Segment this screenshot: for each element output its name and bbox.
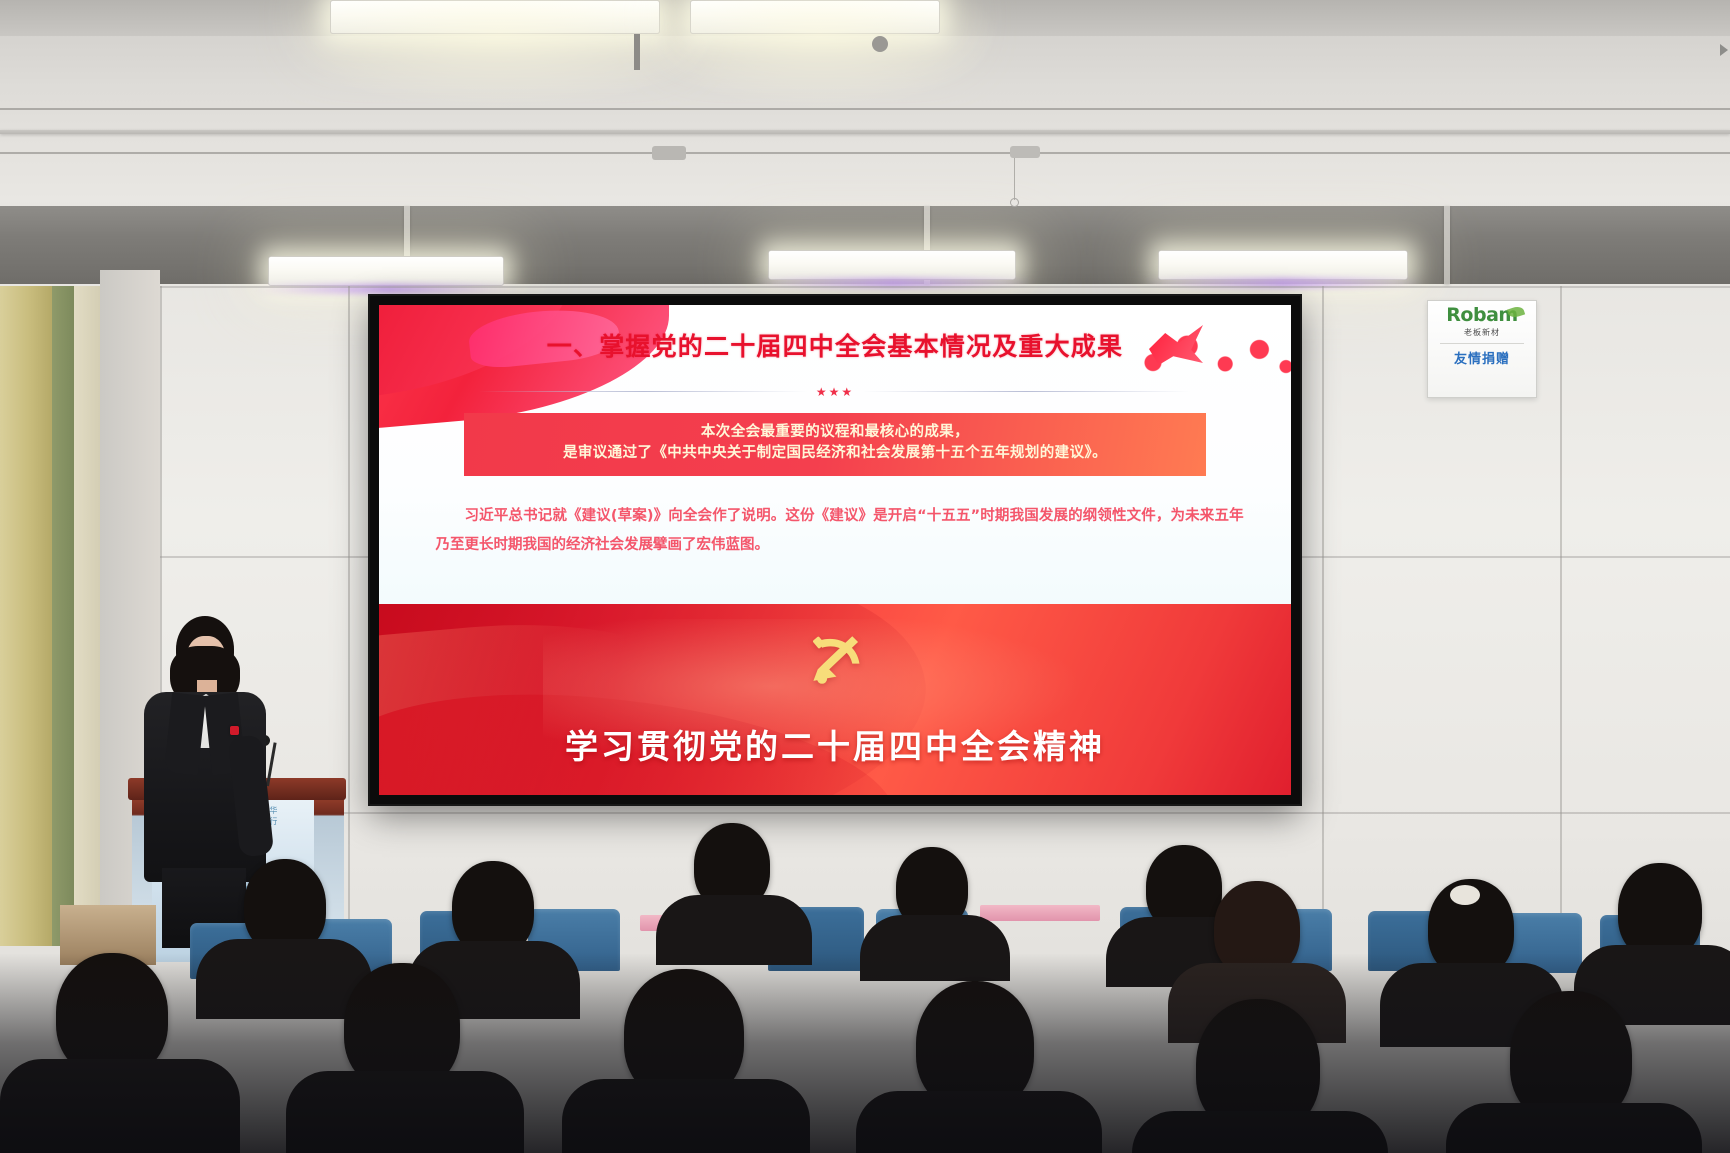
sponsor-donation-text: 友情捐赠	[1454, 348, 1510, 367]
hair-accessory	[1450, 885, 1480, 905]
ceiling-light-fixture	[1158, 250, 1408, 280]
ceiling-light-fixture	[330, 0, 660, 34]
ceiling-beam	[0, 130, 1730, 134]
slide-divider: ★★★	[479, 386, 1190, 398]
chevron-right-icon	[1720, 44, 1728, 56]
sponsor-divider	[1440, 343, 1524, 344]
ceiling-beam	[1444, 206, 1450, 284]
wall-seam	[0, 286, 1730, 288]
sponsor-brand-cn: 老板新材	[1464, 327, 1500, 338]
callout-line-1: 本次全会最重要的议程和最核心的成果，	[474, 422, 1196, 444]
slide-surface: 一、掌握党的二十届四中全会基本情况及重大成果 ★★★ 本次全会最重要的议程和最核…	[379, 305, 1291, 795]
sponsor-sign: Robam 老板新材 友情捐赠	[1427, 300, 1537, 398]
divider-stars: ★★★	[816, 386, 854, 398]
ceiling-dome	[872, 36, 888, 52]
sponsor-logo: Robam	[1446, 305, 1517, 326]
desk-row	[980, 905, 1100, 921]
ceiling-seam	[0, 108, 1730, 110]
callout-line-2: 是审议通过了《中共中央关于制定国民经济和社会发展第十五个五年规划的建议》。	[474, 443, 1196, 465]
hammer-and-sickle-icon	[379, 619, 1291, 691]
slide-callout-box: 本次全会最重要的议程和最核心的成果， 是审议通过了《中共中央关于制定国民经济和社…	[464, 413, 1206, 477]
slide-upper-section: 一、掌握党的二十届四中全会基本情况及重大成果 ★★★ 本次全会最重要的议程和最核…	[379, 305, 1291, 604]
divider-line-right	[862, 391, 1191, 392]
ceiling-light-fixture	[690, 0, 940, 34]
foreground-shadow	[0, 953, 1730, 1153]
ceiling-seam	[0, 152, 1730, 154]
seated-audience	[0, 823, 1730, 1153]
ceiling-sensor-ring	[1010, 198, 1019, 207]
ceiling-sensor	[1010, 146, 1040, 158]
banner-headline: 学习贯彻党的二十届四中全会精神	[379, 720, 1291, 768]
ceiling-wire	[1014, 158, 1015, 200]
ceiling-speaker	[652, 146, 686, 160]
ceiling-rod	[634, 34, 640, 70]
divider-line-left	[479, 391, 808, 392]
slide-lower-banner: 学习贯彻党的二十届四中全会精神	[379, 604, 1291, 795]
led-display-screen: 一、掌握党的二十届四中全会基本情况及重大成果 ★★★ 本次全会最重要的议程和最核…	[370, 296, 1300, 804]
slide-section-title: 一、掌握党的二十届四中全会基本情况及重大成果	[379, 327, 1291, 363]
conference-hall-photo: Robam 老板新材 友情捐赠 一、掌握党的二十届四中全会基本情况及重大成果 ★…	[0, 0, 1730, 1153]
ceiling-light-fixture	[268, 256, 504, 286]
party-badge-icon	[230, 726, 239, 735]
ceiling-light-fixture	[768, 250, 1016, 280]
slide-body-paragraph: 习近平总书记就《建议(草案)》向全会作了说明。这份《建议》是开启“十五五”时期我…	[436, 502, 1244, 559]
